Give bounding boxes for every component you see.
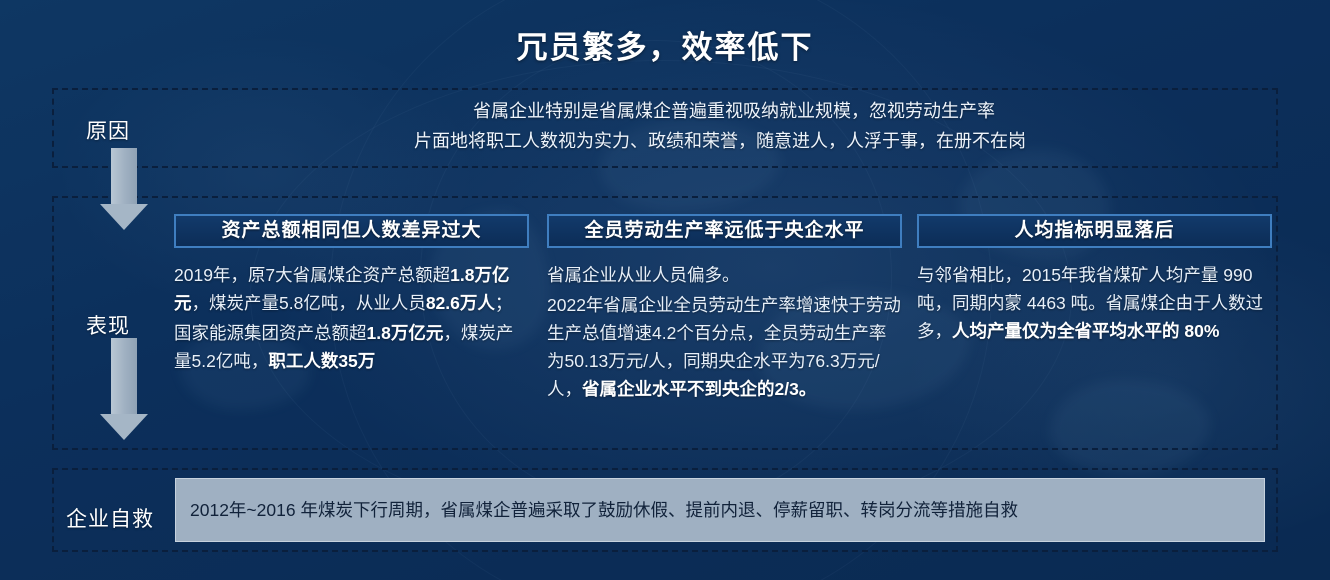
emphasis-text: 省属企业水平不到央企的2/3。	[582, 379, 816, 399]
symptom-column-body: 2019年，原7大省属煤企资产总额超1.8万亿元，煤炭产量5.8亿吨，从业人员8…	[174, 261, 529, 375]
cause-line-2: 片面地将职工人数视为实力、政绩和荣誉，随意进人，人浮于事，在册不在岗	[180, 126, 1260, 156]
arrow-shaft	[111, 148, 137, 204]
self-rescue-text: 2012年~2016 年煤炭下行周期，省属煤企普遍采取了鼓励休假、提前内退、停薪…	[190, 497, 1018, 523]
body-text: 省属企业从业人员偏多。	[547, 265, 740, 285]
symptom-column-header: 人均指标明显落后	[917, 214, 1272, 248]
symptom-column-1: 资产总额相同但人数差异过大 2019年，原7大省属煤企资产总额超1.8万亿元，煤…	[174, 214, 529, 377]
slide-title: 冗员繁多，效率低下	[0, 22, 1330, 67]
body-text: ；	[495, 293, 513, 313]
arrow-head	[100, 414, 148, 440]
down-arrow-icon-1	[100, 148, 148, 230]
stage-label-symptom: 表现	[86, 310, 130, 340]
text-paragraph: 省属企业从业人员偏多。	[547, 261, 902, 289]
stage-label-cause: 原因	[86, 115, 130, 145]
arrow-shaft	[111, 338, 137, 414]
text-paragraph: 国家能源集团资产总额超1.8万亿元，煤炭产量5.2亿吨，职工人数35万	[174, 319, 529, 375]
cause-text-block: 省属企业特别是省属煤企普遍重视吸纳就业规模，忽视劳动生产率 片面地将职工人数视为…	[180, 96, 1260, 156]
emphasis-text: 人均产量仅为全省平均水平的 80%	[952, 321, 1219, 341]
symptom-column-header: 资产总额相同但人数差异过大	[174, 214, 529, 248]
body-text: ，煤炭产量5.8亿吨，从业人员	[192, 293, 426, 313]
emphasis-text: 82.6万人	[426, 293, 495, 313]
symptom-column-body: 与邻省相比，2015年我省煤矿人均产量 990吨，同期内蒙 4463 吨。省属煤…	[917, 261, 1272, 345]
symptom-column-2: 全员劳动生产率远低于央企水平 省属企业从业人员偏多。2022年省属企业全员劳动生…	[547, 214, 902, 405]
emphasis-text: 职工人数35万	[268, 351, 375, 371]
arrow-head	[100, 204, 148, 230]
text-paragraph: 2019年，原7大省属煤企资产总额超1.8万亿元，煤炭产量5.8亿吨，从业人员8…	[174, 261, 529, 317]
symptom-column-body: 省属企业从业人员偏多。2022年省属企业全员劳动生产率增速快于劳动生产总值增速4…	[547, 261, 902, 403]
down-arrow-icon-2	[100, 338, 148, 440]
cause-line-1: 省属企业特别是省属煤企普遍重视吸纳就业规模，忽视劳动生产率	[180, 96, 1260, 126]
self-rescue-bar: 2012年~2016 年煤炭下行周期，省属煤企普遍采取了鼓励休假、提前内退、停薪…	[175, 478, 1265, 542]
text-paragraph: 2022年省属企业全员劳动生产率增速快于劳动生产总值增速4.2个百分点，全员劳动…	[547, 291, 902, 403]
body-text: 2019年，原7大省属煤企资产总额超	[174, 265, 450, 285]
symptom-column-header: 全员劳动生产率远低于央企水平	[547, 214, 902, 248]
emphasis-text: 1.8万亿元	[367, 323, 444, 343]
text-paragraph: 与邻省相比，2015年我省煤矿人均产量 990吨，同期内蒙 4463 吨。省属煤…	[917, 261, 1272, 345]
symptom-column-3: 人均指标明显落后 与邻省相比，2015年我省煤矿人均产量 990吨，同期内蒙 4…	[917, 214, 1272, 347]
body-text: 国家能源集团资产总额超	[174, 323, 367, 343]
stage-label-self-rescue: 企业自救	[66, 503, 154, 533]
